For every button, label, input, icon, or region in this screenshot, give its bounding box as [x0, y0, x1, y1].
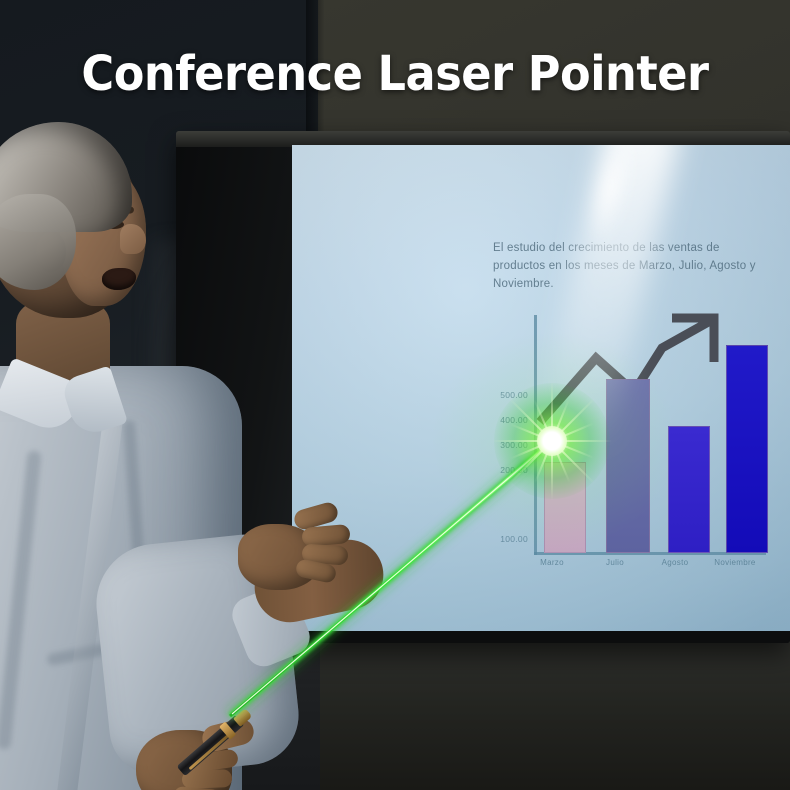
bar-noviembre: [726, 345, 768, 553]
presenter-nose: [120, 224, 146, 254]
y-tick-300: 300.00: [468, 440, 528, 450]
y-tick-400: 400.00: [468, 415, 528, 425]
slide-body-text: El estudio del crecimiento de las ventas…: [493, 240, 773, 293]
y-tick-500: 500.00: [468, 390, 528, 400]
x-label-julio: Julio: [590, 558, 640, 567]
x-label-noviembre: Noviembre: [704, 558, 766, 567]
presenter: [0, 120, 312, 790]
bar-julio: [606, 379, 650, 553]
bar-agosto: [668, 426, 710, 553]
presenter-hand-open: [232, 502, 350, 598]
slide-bar-chart: 500.00 400.00 300.00 200.00 100.00 Marzo: [482, 310, 772, 570]
x-label-marzo: Marzo: [527, 558, 577, 567]
page-title: Conference Laser Pointer: [28, 46, 763, 102]
screenshot-canvas: El estudio del crecimiento de las ventas…: [0, 0, 790, 790]
x-label-agosto: Agosto: [650, 558, 700, 567]
y-tick-100: 100.00: [468, 534, 528, 544]
floor-right: [300, 630, 790, 790]
chart-bars: [534, 315, 766, 553]
y-tick-200: 200.00: [468, 465, 528, 475]
screen-glare-hotspot: [578, 145, 642, 250]
bar-marzo: [544, 462, 586, 553]
